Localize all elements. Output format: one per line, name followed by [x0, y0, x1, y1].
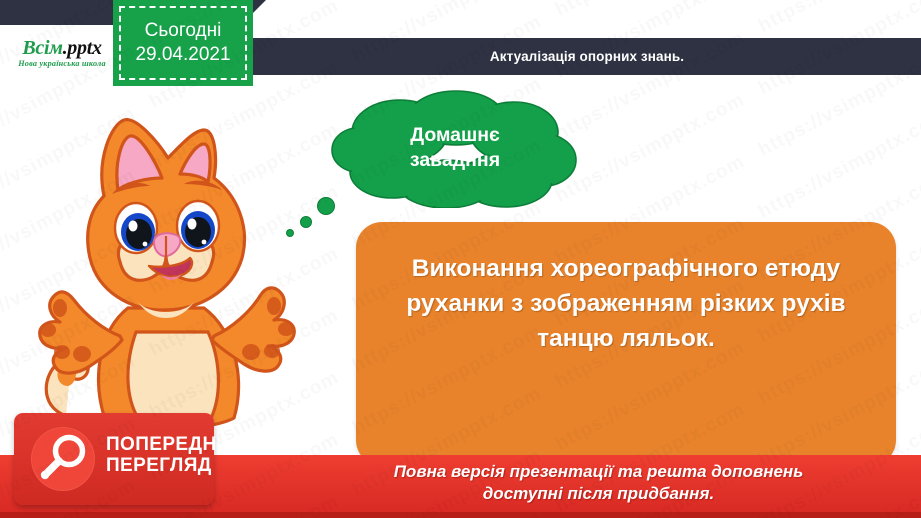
brand-logo: Всім.pptx Нова українська школа [0, 25, 124, 80]
slide-canvas: Всім.pptx Нова українська школа Сьогодні… [0, 0, 921, 518]
thought-bubble-shape [330, 88, 580, 208]
homework-content-text: Виконання хореографічного етюду руханки … [374, 252, 878, 356]
footer-line1: Повна версія презентації та решта доповн… [290, 461, 907, 483]
homework-content-box: Виконання хореографічного етюду руханки … [356, 222, 896, 466]
logo-subtitle: Нова українська школа [18, 59, 106, 68]
section-header-title: Актуалізація опорних знань. [490, 49, 684, 64]
thought-trail-dot-small [286, 229, 294, 237]
magnifier-icon [31, 427, 95, 491]
thought-trail-dot-medium [300, 216, 312, 228]
section-header-bar: Актуалізація опорних знань. [253, 38, 921, 75]
preview-badge-line2: ПЕРЕГЛЯД [106, 455, 236, 476]
cartoon-cat-illustration [8, 86, 308, 446]
logo-wordmark: Всім.pptx [22, 38, 101, 58]
preview-badge-label: ПОПЕРЕДНІЙ ПЕРЕГЛЯД [106, 434, 236, 477]
preview-badge-line1: ПОПЕРЕДНІЙ [106, 434, 236, 455]
footer-line2: доступні після придбання. [290, 483, 907, 505]
today-date-chip: Сьогодні 29.04.2021 [113, 0, 253, 86]
magnifier-icon-circle [31, 427, 95, 491]
today-label: Сьогодні [145, 21, 222, 41]
preview-badge[interactable]: ПОПЕРЕДНІЙ ПЕРЕГЛЯД [14, 413, 214, 505]
today-date: 29.04.2021 [135, 45, 230, 65]
footer-bottom-strip [0, 512, 921, 518]
thought-bubble: Домашнє завадння [330, 88, 580, 208]
logo-wordmark-prefix: Всім [22, 37, 62, 59]
footer-banner-text: Повна версія презентації та решта доповн… [290, 461, 907, 505]
logo-wordmark-suffix: .pptx [63, 37, 102, 59]
thought-trail-dot-large [317, 197, 335, 215]
